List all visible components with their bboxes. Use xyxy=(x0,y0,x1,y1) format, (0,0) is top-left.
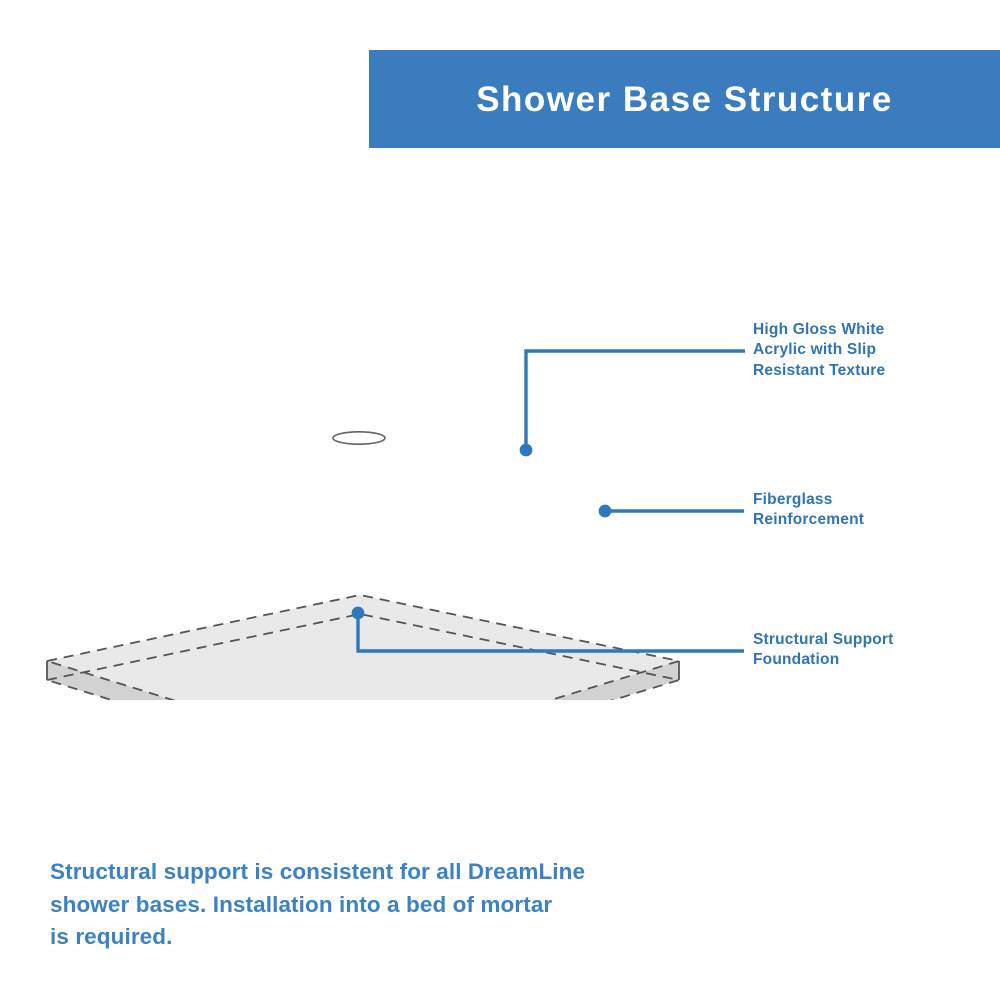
leader-dot-fiberglass xyxy=(599,505,612,518)
callout-label-fiberglass: Fiberglass Reinforcement xyxy=(753,490,993,531)
leader-line-acrylic xyxy=(526,351,745,450)
callout-label-acrylic: High Gloss White Acrylic with Slip Resis… xyxy=(753,320,993,381)
footer-caption: Structural support is consistent for all… xyxy=(50,856,670,954)
leader-dot-foundation xyxy=(352,607,365,620)
leader-dot-acrylic xyxy=(520,444,533,457)
page-root: Shower Base Structure xyxy=(0,0,1000,1000)
callout-label-foundation: Structural Support Foundation xyxy=(753,630,993,671)
header-banner: Shower Base Structure xyxy=(369,50,1000,148)
page-title: Shower Base Structure xyxy=(476,82,893,117)
